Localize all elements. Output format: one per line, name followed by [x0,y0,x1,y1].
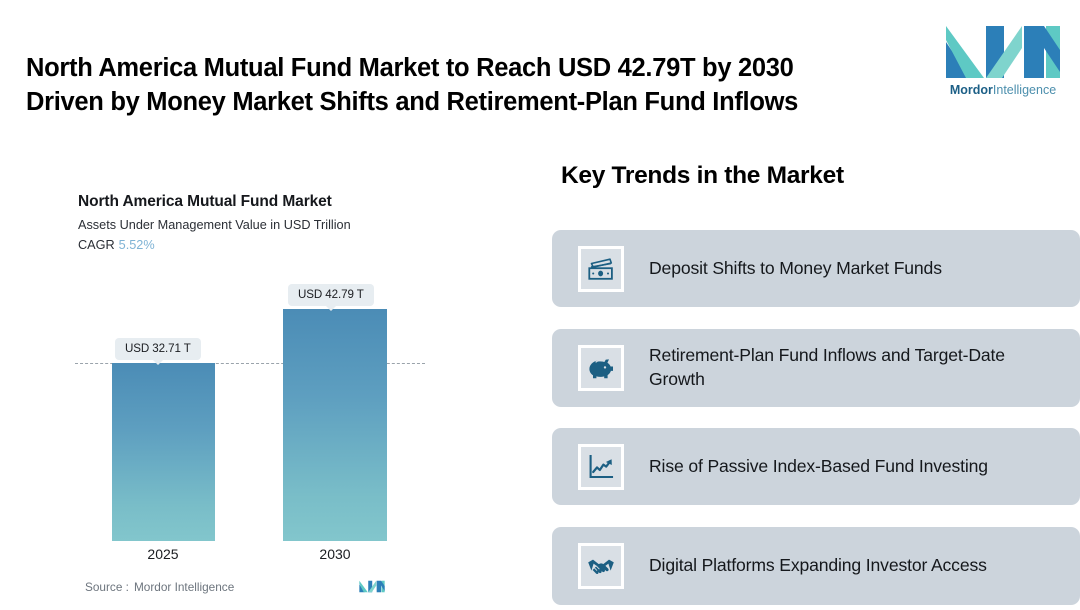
chart-panel: North America Mutual Fund Market Assets … [0,150,530,610]
chart-source: Source :Mordor Intelligence [85,580,234,594]
trend-card[interactable]: Deposit Shifts to Money Market Funds [552,230,1080,307]
key-trends-heading: Key Trends in the Market [561,162,844,190]
trend-label: Rise of Passive Index-Based Fund Investi… [649,455,1062,479]
banknotes-cash-icon [578,246,624,292]
footer-mordor-logo-icon [358,578,386,595]
mordor-m-logo-icon [940,22,1066,82]
page-title-line-1: North America Mutual Fund Market to Reac… [26,52,906,86]
trend-label: Digital Platforms Expanding Investor Acc… [649,554,1062,578]
handshake-icon [578,543,624,589]
source-label: Source : [85,580,129,594]
piggy-bank-icon [578,345,624,391]
brand-wordmark: MordorIntelligence [940,83,1066,97]
source-name: Mordor Intelligence [134,580,234,594]
brand-logo: MordorIntelligence [940,22,1066,104]
trend-label: Deposit Shifts to Money Market Funds [649,257,1062,281]
page-title-line-2: Driven by Money Market Shifts and Retire… [26,86,906,120]
page-title: North America Mutual Fund Market to Reac… [26,52,906,119]
x-axis-label-2025: 2025 [108,546,218,562]
key-trends-panel: Key Trends in the Market Deposit Shifts … [552,150,1080,610]
trend-label: Retirement-Plan Fund Inflows and Target-… [649,344,1062,392]
bar-chart-plot-area: USD 32.71 T USD 42.79 T 2025 2030 [0,150,530,610]
bar-2030 [283,309,387,541]
brand-name-light: Intelligence [993,83,1056,97]
line-chart-growth-icon [578,444,624,490]
value-badge-2030: USD 42.79 T [288,284,374,306]
brand-name-bold: Mordor [950,83,993,97]
value-badge-2025: USD 32.71 T [115,338,201,360]
bar-2025 [112,363,215,541]
trend-card[interactable]: Rise of Passive Index-Based Fund Investi… [552,428,1080,505]
trend-card[interactable]: Digital Platforms Expanding Investor Acc… [552,527,1080,605]
trend-card[interactable]: Retirement-Plan Fund Inflows and Target-… [552,329,1080,407]
x-axis-label-2030: 2030 [280,546,390,562]
